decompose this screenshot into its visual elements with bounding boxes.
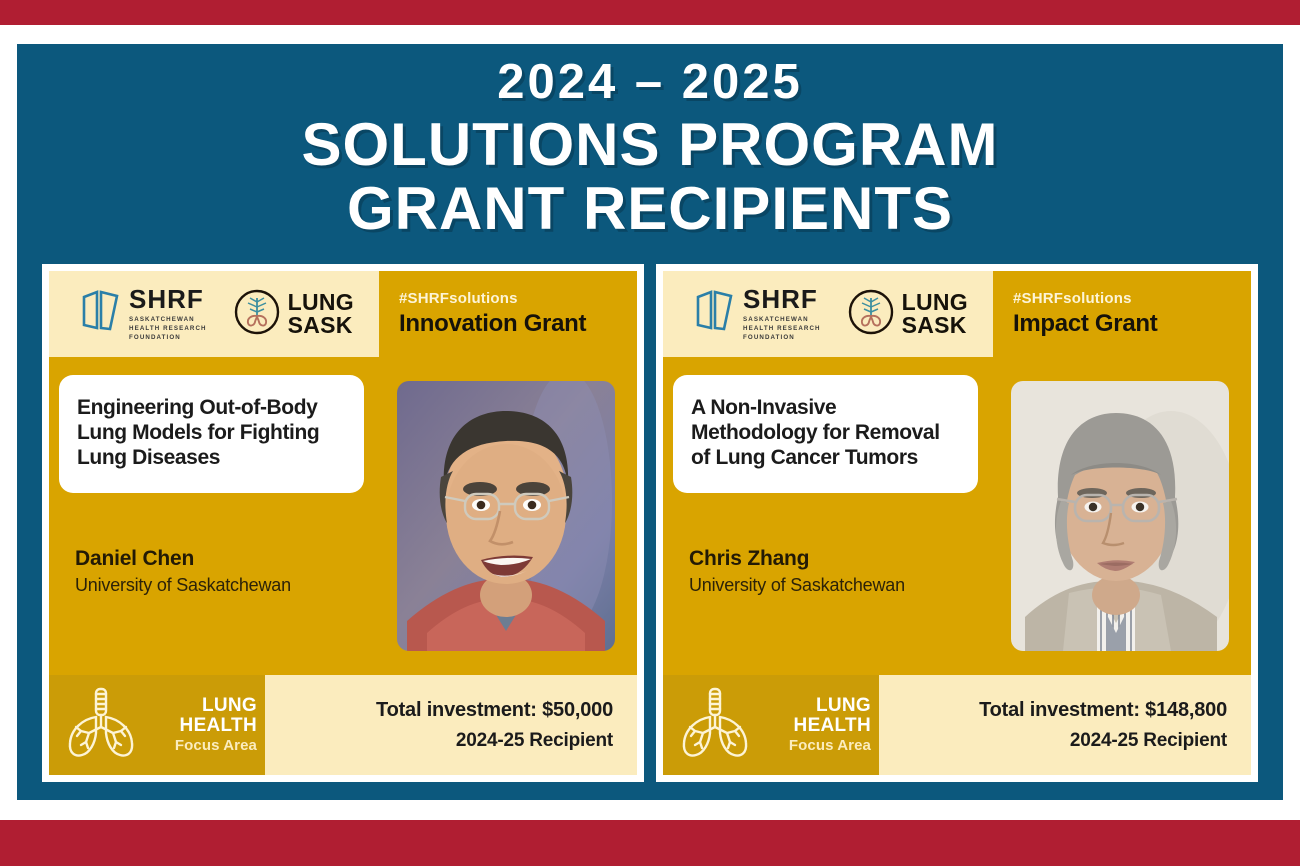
shrf-logo: SHRF SASKATCHEWAN HEALTH RESEARCH FOUNDA… [694, 286, 821, 343]
grant-card[interactable]: SHRF SASKATCHEWAN HEALTH RESEARCH FOUNDA… [656, 264, 1258, 782]
card-header: SHRF SASKATCHEWAN HEALTH RESEARCH FOUNDA… [663, 271, 1251, 357]
shrf-wordmark: SHRF [743, 286, 821, 312]
shrf-sub-line-3: FOUNDATION [129, 334, 181, 341]
recipient-year: 2024-25 Recipient [456, 730, 613, 752]
lung-sask-line-2: SASK [902, 314, 968, 337]
logo-row: SHRF SASKATCHEWAN HEALTH RESEARCH FOUNDA… [49, 271, 379, 357]
project-title: A Non-Invasive Methodology for Removal o… [691, 395, 962, 471]
focus-area-line-1: LUNG [816, 696, 871, 716]
lung-tree-circle-icon [233, 288, 281, 341]
lung-sask-logo: LUNG SASK [233, 288, 354, 341]
lungs-icon [673, 683, 757, 768]
recipient-year: 2024-25 Recipient [1070, 730, 1227, 752]
researcher-block: Daniel Chen University of Saskatchewan [75, 547, 375, 596]
total-investment: Total investment: $50,000 [376, 699, 613, 722]
shrf-sub-line-1: SASKATCHEWAN [743, 316, 809, 323]
title-year-range: 2024 – 2025 [17, 58, 1283, 107]
grant-type-block: #SHRFsolutions Impact Grant [993, 271, 1251, 357]
card-body: Engineering Out-of-Body Lung Models for … [49, 357, 637, 672]
investment-block: Total investment: $50,000 2024-25 Recipi… [265, 675, 637, 775]
shrf-book-icon [80, 288, 122, 339]
focus-area-line-3: Focus Area [175, 738, 257, 754]
card-footer: LUNG HEALTH Focus Area Total investment:… [49, 672, 637, 775]
lung-tree-circle-icon [847, 288, 895, 341]
shrf-sub-line-1: SASKATCHEWAN [129, 316, 195, 323]
lung-sask-line-1: LUNG [288, 291, 354, 314]
lung-sask-line-2: SASK [288, 314, 354, 337]
researcher-photo [1011, 381, 1229, 651]
researcher-institution: University of Saskatchewan [689, 575, 989, 596]
focus-area-line-1: LUNG [202, 696, 257, 716]
lungs-icon [59, 683, 143, 768]
project-title-box: Engineering Out-of-Body Lung Models for … [59, 375, 364, 493]
shrf-sub-line-2: HEALTH RESEARCH [743, 325, 821, 332]
card-body: A Non-Invasive Methodology for Removal o… [663, 357, 1251, 672]
hashtag-label: #SHRFsolutions [399, 290, 637, 307]
researcher-block: Chris Zhang University of Saskatchewan [689, 547, 989, 596]
investment-block: Total investment: $148,800 2024-25 Recip… [879, 675, 1251, 775]
shrf-logo: SHRF SASKATCHEWAN HEALTH RESEARCH FOUNDA… [80, 286, 207, 343]
card-footer: LUNG HEALTH Focus Area Total investment:… [663, 672, 1251, 775]
title-line-1: SOLUTIONS PROGRAM [17, 113, 1283, 177]
researcher-photo [397, 381, 615, 651]
shrf-sub-line-2: HEALTH RESEARCH [129, 325, 207, 332]
focus-area-block: LUNG HEALTH Focus Area [663, 675, 879, 775]
grant-card-list: SHRF SASKATCHEWAN HEALTH RESEARCH FOUNDA… [42, 264, 1258, 782]
focus-area-line-3: Focus Area [789, 738, 871, 754]
grant-type-label: Innovation Grant [399, 310, 637, 338]
project-title-box: A Non-Invasive Methodology for Removal o… [673, 375, 978, 493]
shrf-book-icon [694, 288, 736, 339]
main-blue-panel: 2024 – 2025 SOLUTIONS PROGRAM GRANT RECI… [17, 44, 1283, 800]
researcher-institution: University of Saskatchewan [75, 575, 375, 596]
logo-row: SHRF SASKATCHEWAN HEALTH RESEARCH FOUNDA… [663, 271, 993, 357]
grant-type-block: #SHRFsolutions Innovation Grant [379, 271, 637, 357]
bottom-red-band [0, 820, 1300, 866]
hashtag-label: #SHRFsolutions [1013, 290, 1251, 307]
title-line-2: GRANT RECIPIENTS [17, 177, 1283, 241]
card-header: SHRF SASKATCHEWAN HEALTH RESEARCH FOUNDA… [49, 271, 637, 357]
total-investment: Total investment: $148,800 [979, 699, 1227, 722]
focus-area-line-2: HEALTH [180, 716, 257, 736]
lung-sask-line-1: LUNG [902, 291, 968, 314]
project-title: Engineering Out-of-Body Lung Models for … [77, 395, 348, 471]
grant-type-label: Impact Grant [1013, 310, 1251, 338]
top-red-band [0, 0, 1300, 25]
lung-sask-logo: LUNG SASK [847, 288, 968, 341]
focus-area-line-2: HEALTH [794, 716, 871, 736]
focus-area-block: LUNG HEALTH Focus Area [49, 675, 265, 775]
researcher-name: Daniel Chen [75, 547, 375, 571]
grant-card[interactable]: SHRF SASKATCHEWAN HEALTH RESEARCH FOUNDA… [42, 264, 644, 782]
shrf-sub-line-3: FOUNDATION [743, 334, 795, 341]
shrf-wordmark: SHRF [129, 286, 207, 312]
researcher-name: Chris Zhang [689, 547, 989, 571]
page-title: 2024 – 2025 SOLUTIONS PROGRAM GRANT RECI… [17, 58, 1283, 241]
